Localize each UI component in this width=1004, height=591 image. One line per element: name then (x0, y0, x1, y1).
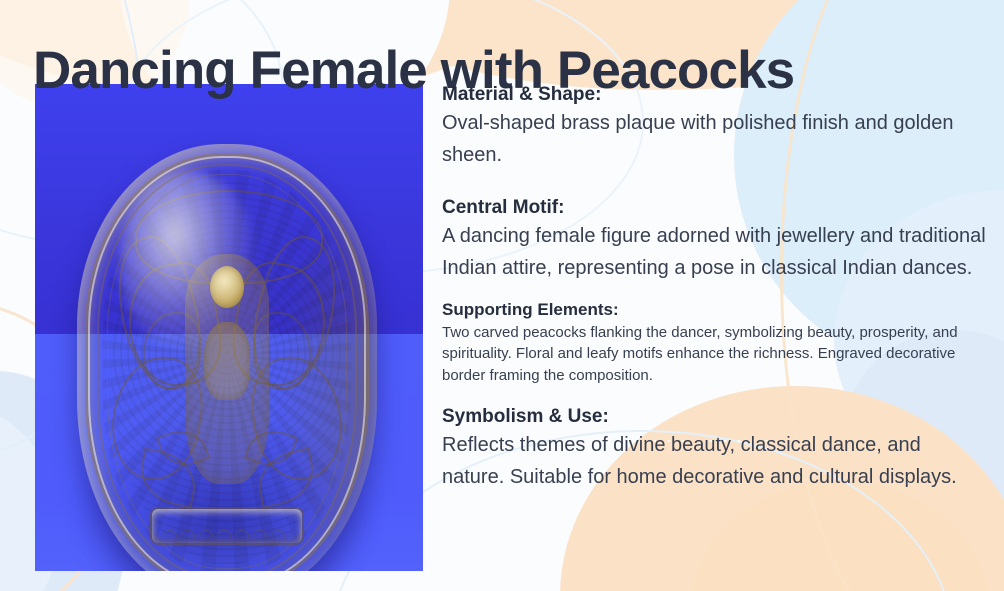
section-central-motif: Central Motif: A dancing female figure a… (442, 195, 987, 284)
section-heading-central-motif: Central Motif: (442, 195, 987, 220)
section-heading-supporting-elements: Supporting Elements: (442, 299, 987, 321)
plaque-outer-border (85, 153, 369, 571)
plaque-body (77, 144, 377, 571)
section-body-symbolism-use: Reflects themes of divine beauty, classi… (442, 430, 987, 493)
section-heading-symbolism-use: Symbolism & Use: (442, 404, 987, 429)
section-symbolism-use: Symbolism & Use: Reflects themes of divi… (442, 404, 987, 493)
product-image-panel (35, 84, 423, 571)
brass-plaque-image (77, 144, 377, 571)
section-body-material-shape: Oval-shaped brass plaque with polished f… (442, 108, 987, 171)
section-body-supporting-elements: Two carved peacocks flanking the dancer,… (442, 322, 987, 386)
section-material-shape: Material & Shape: Oval-shaped brass plaq… (442, 82, 987, 171)
section-supporting-elements: Supporting Elements: Two carved peacocks… (442, 299, 987, 386)
description-column: Material & Shape: Oval-shaped brass plaq… (442, 82, 987, 505)
section-heading-material-shape: Material & Shape: (442, 82, 987, 107)
section-body-central-motif: A dancing female figure adorned with jew… (442, 221, 987, 284)
slide-canvas: Dancing Female with Peacocks (0, 0, 1004, 591)
